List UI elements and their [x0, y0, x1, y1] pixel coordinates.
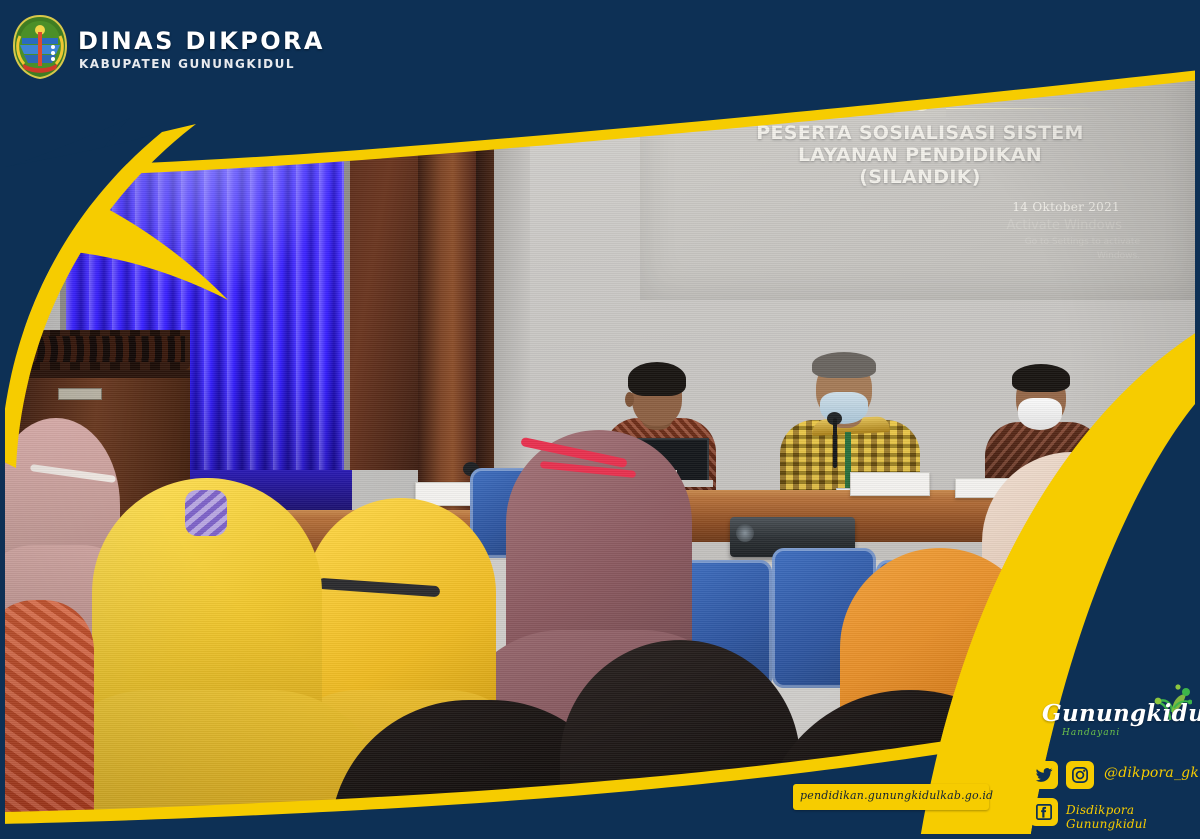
nameplate — [850, 472, 930, 496]
twitter-bird-glyph — [1035, 766, 1053, 784]
social-edge-tab — [996, 790, 1020, 818]
podium-carving — [0, 336, 185, 362]
slide-date: 14 Oktober 2021 — [1012, 200, 1120, 214]
speaker-left-hair — [628, 362, 686, 396]
page-title: DINAS DIKPORA — [78, 27, 325, 55]
slide-subtitle-line3: (SILANDIK) — [640, 166, 1200, 188]
speaker-left-ear — [625, 392, 634, 407]
slide-subtitle-line2: LAYANAN PENDIDIKAN — [640, 144, 1200, 166]
attendee-yellow-1-hijab-pin — [185, 490, 227, 536]
gunungkidul-brand-name: Gunungkidul — [1042, 700, 1200, 727]
speaker-right-hair — [1012, 364, 1070, 392]
windows-watermark-body: Go to Settings to activate Windows. — [1025, 236, 1140, 263]
microphone-stem-center — [833, 418, 837, 468]
facebook-icon[interactable] — [1030, 798, 1058, 826]
page-subtitle: KABUPATEN GUNUNGKIDUL — [79, 57, 295, 71]
windows-watermark-line3: Windows. — [1025, 250, 1140, 264]
gunungkidul-regency-crest-icon — [12, 14, 68, 80]
windows-watermark-title: Activate Windows — [1007, 218, 1122, 233]
attendee-red-outfit — [0, 600, 94, 839]
twitter-icon[interactable] — [1030, 761, 1058, 789]
facebook-f-glyph — [1035, 803, 1053, 821]
speaker-right-face-mask — [1018, 398, 1062, 430]
instagram-camera-glyph — [1071, 766, 1089, 784]
podium-shelf — [0, 370, 190, 378]
social-handle-twitter-instagram[interactable]: @dikpora_gk — [1104, 765, 1199, 781]
curtain-glow — [66, 118, 344, 298]
windows-watermark-line2: Go to Settings to activate — [1025, 236, 1140, 250]
poster-canvas: SELAMAT DATANG ❧ PESERTA SOSIALISASI SIS… — [0, 0, 1200, 839]
instagram-icon[interactable] — [1066, 761, 1094, 789]
website-url[interactable]: pendidikan.gunungkidulkab.go.id — [800, 789, 986, 802]
social-handle-facebook[interactable]: Disdikpora Gunungkidul — [1066, 803, 1200, 831]
gunungkidul-brand-tagline: Handayani — [1062, 728, 1120, 738]
projector-lens — [736, 524, 754, 542]
speaker-center-hair — [812, 352, 876, 378]
poster-header: DINAS DIKPORA KABUPATEN GUNUNGKIDUL — [0, 0, 1200, 140]
podium-plate — [58, 388, 102, 400]
